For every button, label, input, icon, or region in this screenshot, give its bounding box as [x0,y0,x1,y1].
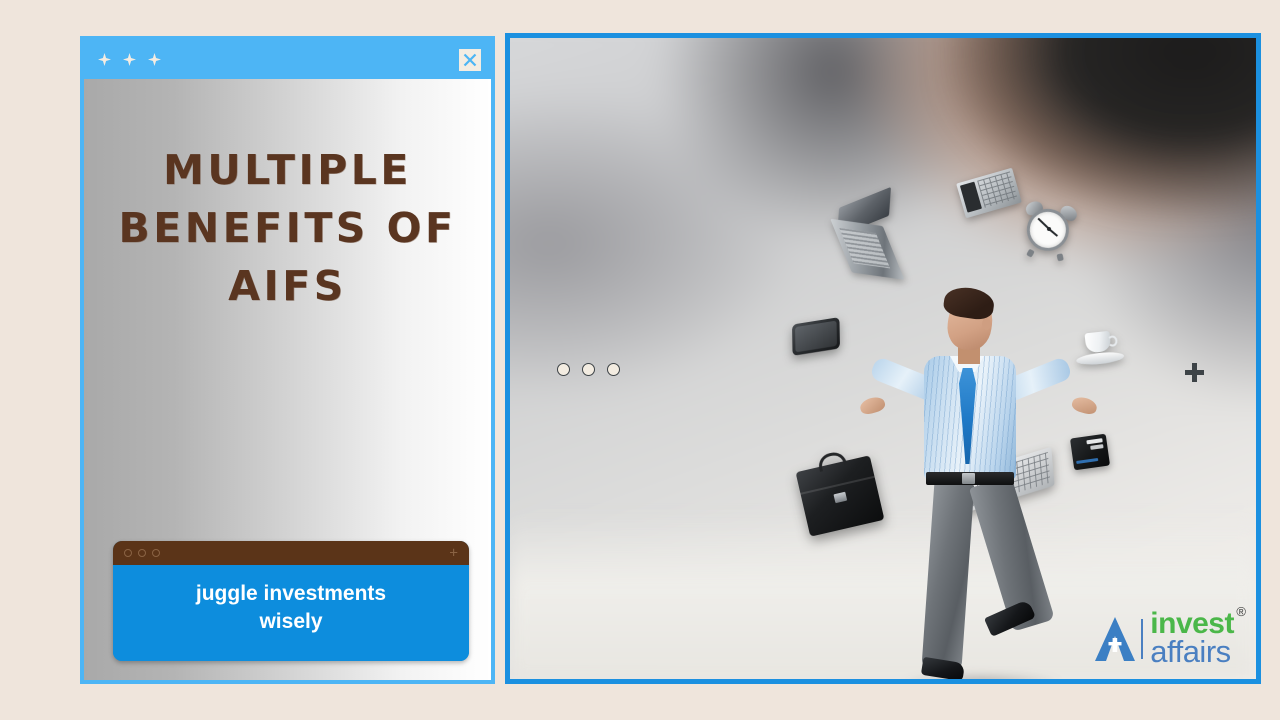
window-dot-icon [138,549,146,557]
close-icon[interactable] [459,49,481,71]
left-text-panel: MULTIPLE BENEFITS OF AIFs + juggle inves… [80,36,495,684]
logo-divider [1141,619,1144,659]
caption-card: + juggle investments wisely [113,541,469,661]
left-panel-body: MULTIPLE BENEFITS OF AIFs + juggle inves… [84,79,491,680]
diamond-icon [98,53,111,66]
plus-icon[interactable]: + [449,546,458,561]
logo-wordmark: ® invest affairs [1150,610,1234,667]
caption-card-titlebar: + [113,541,469,565]
overlay-dot-icon [582,363,595,376]
right-image-panel: ® invest affairs [505,33,1261,684]
page-title: MULTIPLE BENEFITS OF AIFs [84,141,491,316]
diamond-icon [123,53,136,66]
alarm-clock-object [1020,200,1079,259]
overlay-dot-icon [607,363,620,376]
brand-logo: ® invest affairs [1094,610,1234,667]
registered-mark: ® [1236,606,1246,618]
caption-text: juggle investments wisely [113,565,469,661]
diamond-icon [148,53,161,66]
juggling-businessman-photo: ® invest affairs [510,38,1256,679]
window-dot-icon [152,549,160,557]
overlay-plus-icon [1185,363,1204,382]
a-logo-icon [1094,616,1136,662]
left-panel-titlebar [84,40,491,79]
overlay-dot-icon [557,363,570,376]
logo-line-affairs: affairs [1150,638,1234,667]
window-dot-icon [124,549,132,557]
overlay-dot-group [557,363,620,376]
slide-canvas: MULTIPLE BENEFITS OF AIFs + juggle inves… [0,0,1280,720]
